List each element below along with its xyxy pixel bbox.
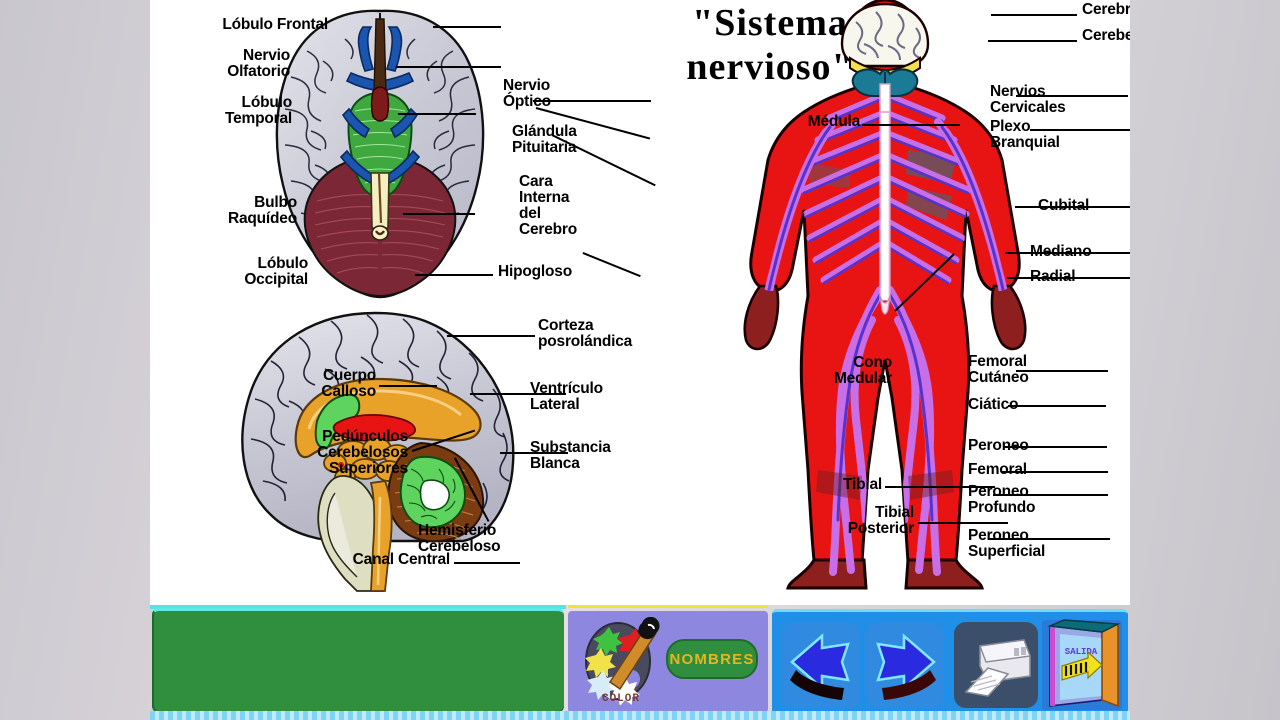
label-nervio-olfatorio: Nervio Olfatorio [160, 48, 290, 80]
leader-canal-central [454, 562, 520, 564]
label-femoral-cutaneo: Femoral Cutáneo [968, 354, 1118, 386]
tools-panel: COLOR NOMBRES [568, 611, 768, 713]
print-button[interactable] [954, 622, 1038, 708]
label-cerebro: Cerebro [1082, 2, 1130, 18]
leader-tibial-posterior [918, 522, 1008, 524]
label-hipogloso: Hipogloso [498, 264, 618, 280]
illustration-canvas: "Sistema nervioso" [150, 0, 1130, 605]
palette-icon [582, 617, 660, 705]
leader-corteza-posrolandica [447, 335, 535, 337]
bottom-toolbar: COLOR NOMBRES [150, 605, 1130, 720]
label-cubital: Cubital [1038, 198, 1130, 214]
label-mediano: Mediano [1030, 244, 1130, 260]
label-ventriculo-lateral: Ventrículo Lateral [530, 381, 670, 413]
label-substancia-blanca: Substancia Blanca [530, 440, 670, 472]
label-cerebelo: Cerebelo [1082, 28, 1130, 44]
exit-door-icon: SALIDA [1040, 618, 1124, 712]
navigation-panel: SALIDA [772, 609, 1128, 715]
label-glandula-pituitaria: Glándula Pituitaria [512, 124, 642, 156]
label-pedunculos: Pedúnculos Cerebelosos Superiores [150, 429, 408, 477]
label-medula: Médula [670, 114, 860, 130]
color-palette-button[interactable] [582, 617, 660, 705]
leader-lobulo-temporal [398, 113, 476, 115]
yellow-rule [568, 605, 768, 608]
leader-medula [862, 124, 960, 126]
exit-door-label: SALIDA [1065, 647, 1098, 657]
label-cono-medular: Cono Medular [670, 355, 892, 387]
label-plexo-branquial: Plexo Branquial [990, 119, 1130, 151]
label-peroneo-superficial: Peroneo Superficial [968, 528, 1128, 560]
label-tibial-posterior: Tibial Posterior [670, 505, 914, 537]
label-corteza-posrolandica: Corteza posrolándica [538, 318, 698, 350]
label-nervios-cervicales: Nervios Cervicales [990, 84, 1130, 116]
label-hemisferio-cerebeloso: Hemisferio Cerebeloso [418, 523, 568, 555]
label-lobulo-temporal: Lóbulo Temporal [160, 95, 292, 127]
nombres-label: NOMBRES [669, 651, 754, 668]
label-lobulo-frontal: Lóbulo Frontal [160, 17, 328, 33]
label-peroneo-profundo: Peroneo Profundo [968, 484, 1118, 516]
leader-lobulo-occipital [415, 274, 493, 276]
leader-cerebelo [988, 40, 1077, 42]
label-bulbo-raquideo: Bulbo Raquídeo [160, 195, 297, 227]
label-ciatico: Ciático [968, 397, 1118, 413]
color-label: COLOR [582, 693, 660, 705]
label-tibial: Tibial [670, 477, 882, 493]
caption-panel[interactable] [152, 608, 564, 713]
nombres-button[interactable]: NOMBRES [666, 639, 758, 679]
leader-bulbo-raquideo [403, 213, 475, 215]
printer-icon [954, 622, 1038, 708]
arrow-left-icon [782, 622, 860, 708]
label-radial: Radial [1030, 269, 1130, 285]
label-lobulo-occipital: Lóbulo Occipital [160, 256, 308, 288]
leader-cuerpo-calloso [379, 385, 437, 387]
label-femoral: Femoral [968, 462, 1118, 478]
leader-nervio-olfatorio [396, 66, 501, 68]
label-nervio-optico: Nervio Óptico [503, 78, 623, 110]
back-button[interactable] [782, 622, 860, 708]
label-cuerpo-calloso: Cuerpo Calloso [158, 368, 376, 400]
bottom-decor-strip [150, 711, 1130, 720]
leader-cerebro [991, 14, 1077, 16]
label-canal-central: Canal Central [158, 552, 450, 568]
forward-button[interactable] [866, 622, 944, 708]
label-cara-interna: Cara Interna del Cerebro [519, 174, 629, 238]
leader-lobulo-frontal [433, 26, 501, 28]
label-peroneo: Peroneo [968, 438, 1118, 454]
arrow-right-icon [866, 622, 944, 708]
exit-button[interactable]: SALIDA [1040, 618, 1124, 712]
